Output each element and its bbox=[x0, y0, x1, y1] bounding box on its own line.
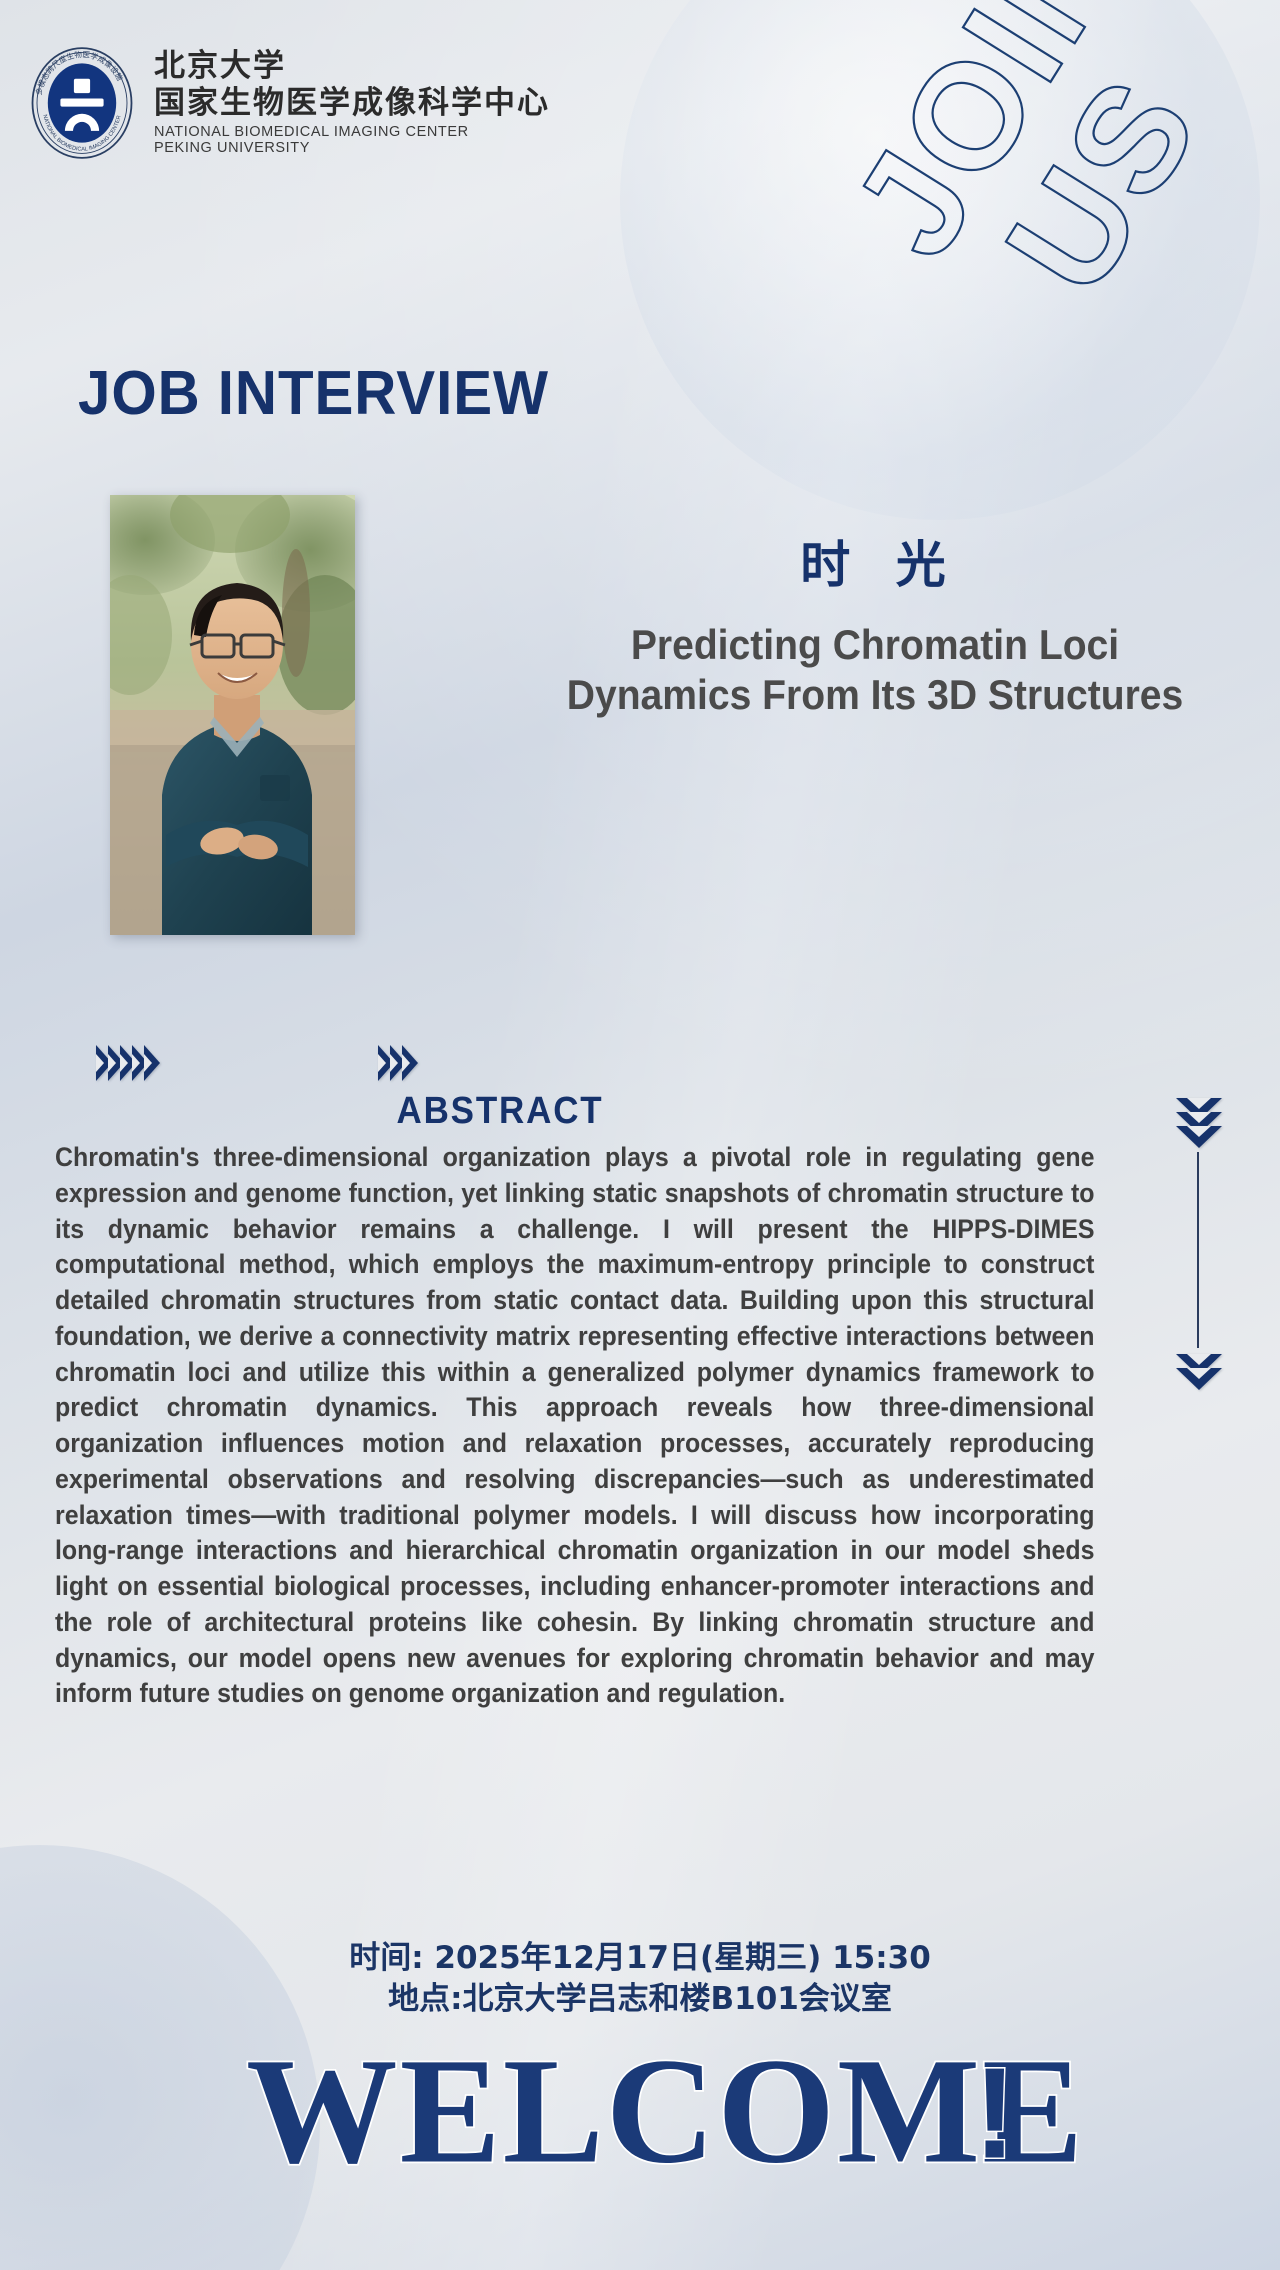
abstract-heading: ABSTRACT bbox=[40, 1090, 960, 1133]
org-name-cn-line1: 北京大学 bbox=[154, 51, 550, 82]
welcome-exclamation: ! bbox=[973, 2042, 1016, 2186]
event-type-title: JOB INTERVIEW bbox=[78, 358, 549, 429]
chevron-down-icon bbox=[1176, 1368, 1222, 1390]
org-name-en-line1: NATIONAL BIOMEDICAL IMAGING CENTER bbox=[154, 125, 550, 140]
join-us-word-us: US bbox=[973, 48, 1230, 321]
talk-title: Predicting Chromatin Loci Dynamics From … bbox=[545, 620, 1205, 719]
nbic-seal-icon: 多模态跨尺度生物医学成像设施 NATIONAL BIOMEDICAL IMAGI… bbox=[28, 44, 136, 162]
chevron-down-icon bbox=[1176, 1098, 1222, 1120]
chevron-down-icon bbox=[1176, 1126, 1222, 1148]
event-time: 时间: 2025年12月17日(星期三) 15:30 bbox=[0, 1938, 1280, 1979]
speaker-name: 时 光 bbox=[520, 525, 1240, 597]
org-name-cn-line2: 国家生物医学成像科学中心 bbox=[154, 88, 550, 119]
chevron-right-icon bbox=[144, 1045, 160, 1081]
event-location: 地点:北京大学吕志和楼B101会议室 bbox=[0, 1979, 1280, 2020]
abstract-body: Chromatin's three-dimensional organizati… bbox=[55, 1140, 1095, 1712]
poster-canvas: JOIN US 多模态跨尺度生物医学成像设施 bbox=[0, 0, 1280, 2270]
down-arrow-decoration bbox=[1176, 1098, 1256, 1518]
join-us-word-join: JOIN bbox=[820, 0, 1156, 284]
org-name-en-line2: PEKING UNIVERSITY bbox=[154, 141, 550, 156]
chevron-right-icon bbox=[402, 1045, 418, 1081]
vertical-rule bbox=[1197, 1152, 1199, 1348]
brand-header: 多模态跨尺度生物医学成像设施 NATIONAL BIOMEDICAL IMAGI… bbox=[28, 44, 550, 162]
join-us-decoration: JOIN US bbox=[800, 0, 1280, 390]
speaker-photo bbox=[110, 495, 355, 935]
chevron-down-icon bbox=[1176, 1112, 1222, 1134]
chevron-group-mid bbox=[378, 1045, 414, 1081]
welcome-banner: WELCOME ! bbox=[0, 2020, 1280, 2192]
background-sheen bbox=[0, 0, 1280, 2270]
background-circle-top bbox=[620, 0, 1260, 520]
chevron-down-icon bbox=[1176, 1354, 1222, 1376]
chevron-group-left bbox=[96, 1045, 156, 1081]
event-info: 时间: 2025年12月17日(星期三) 15:30 地点:北京大学吕志和楼B1… bbox=[0, 1938, 1280, 2020]
welcome-word: WELCOME bbox=[246, 2027, 1085, 2192]
